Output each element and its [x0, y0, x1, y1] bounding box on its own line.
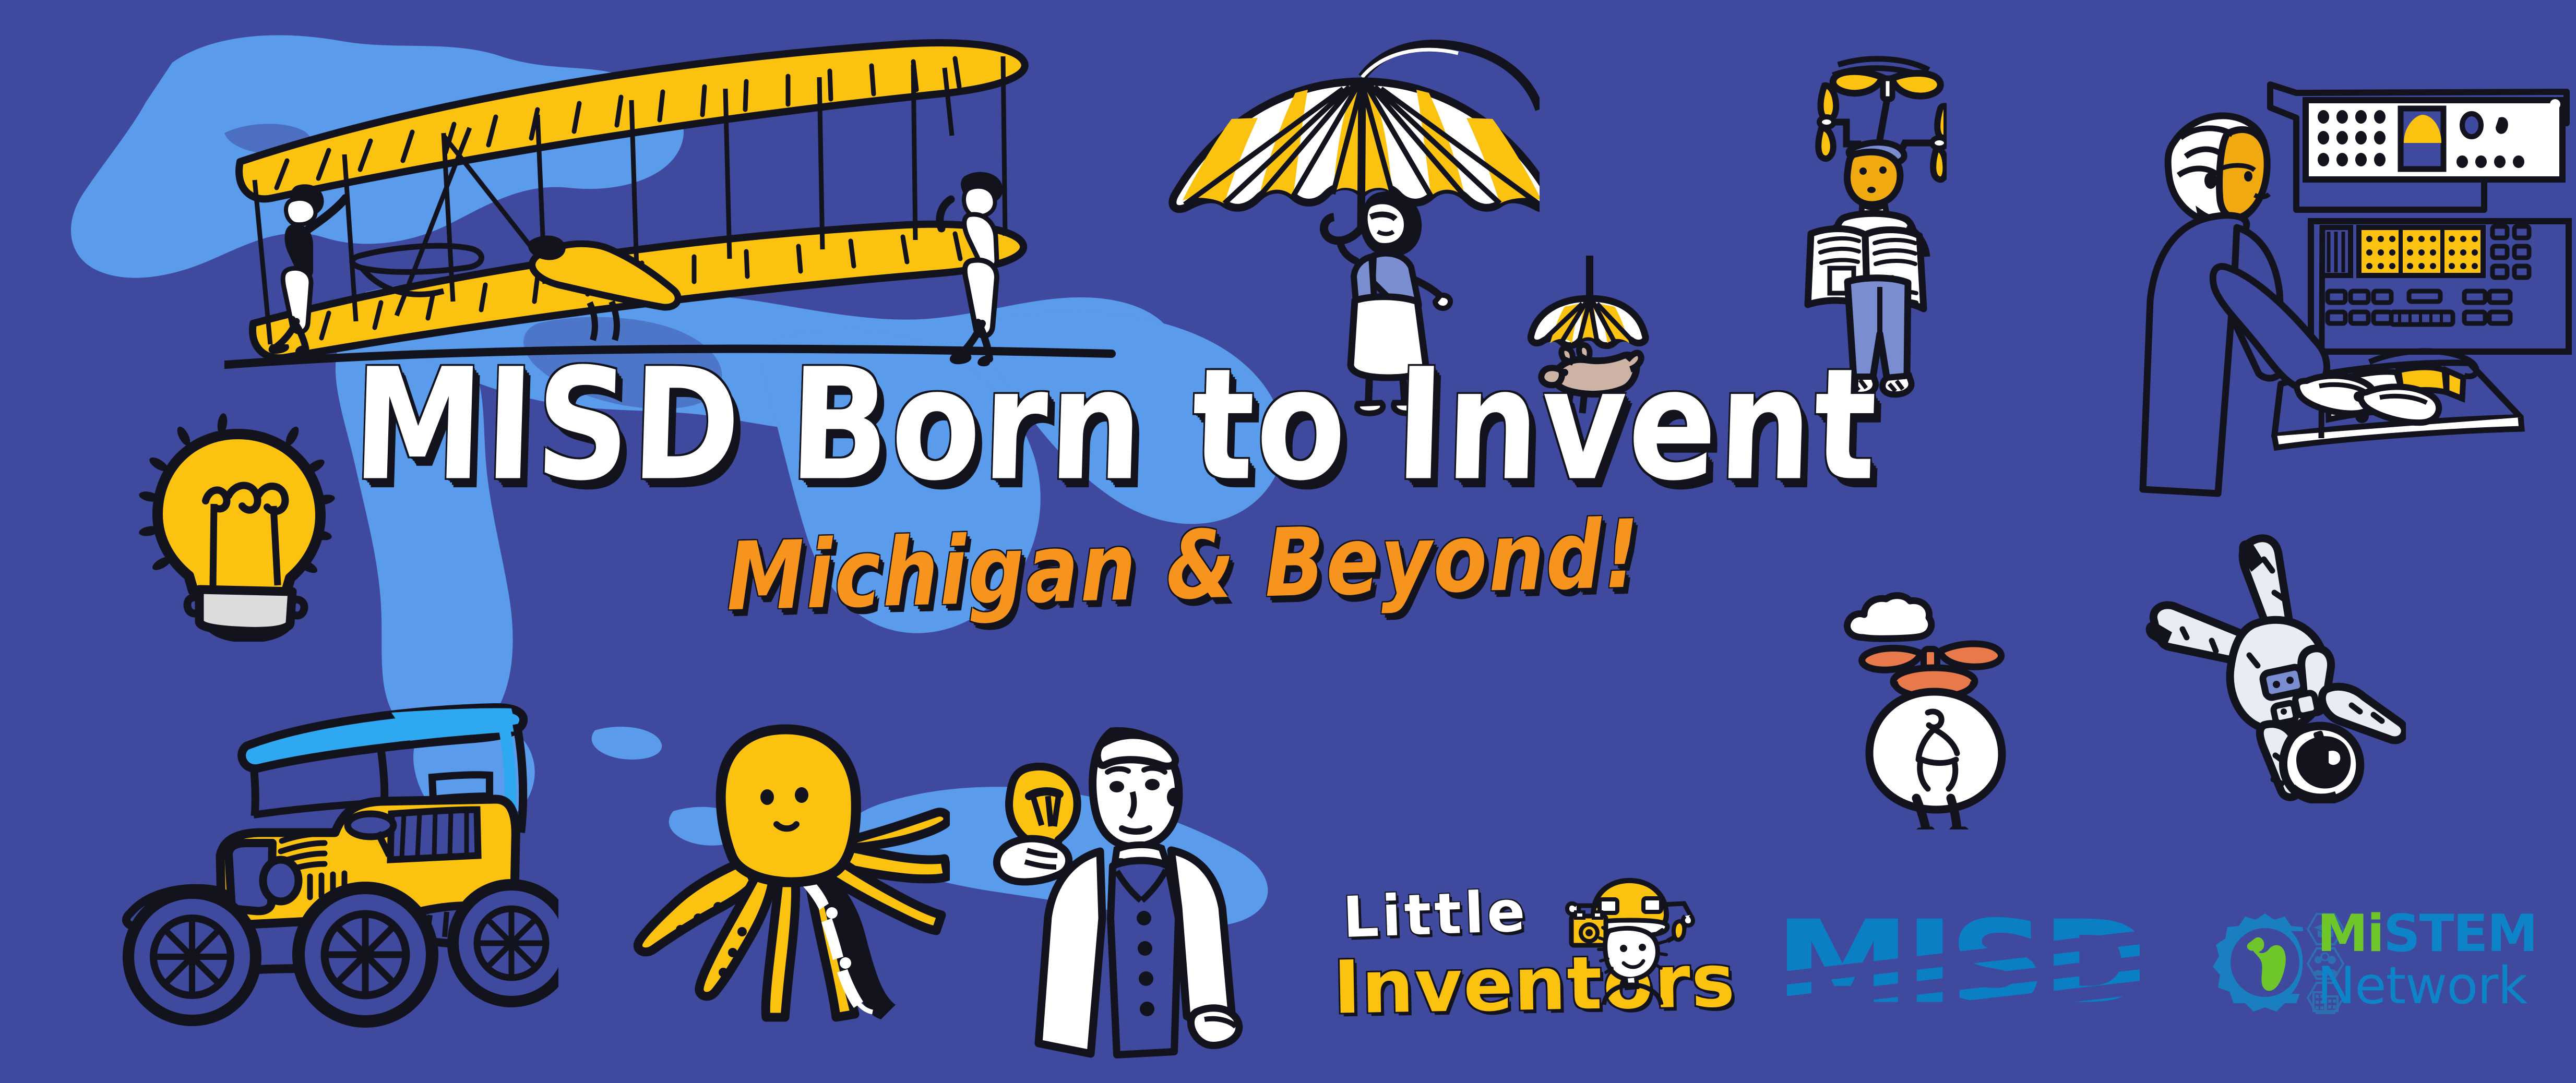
mistem-line1: MiSTEM	[2317, 908, 2537, 960]
mistem-network-logo[interactable]: MiSTEM Network	[2213, 908, 2547, 1049]
banner-root: MISD Born to Invent Michigan & Beyond! L…	[0, 0, 2576, 1083]
little-inventors-line1: Little	[1342, 884, 1529, 946]
propeller-hat-reader	[1727, 52, 1947, 438]
computer-operator	[2124, 73, 2573, 506]
bubble-flyer	[1842, 626, 2051, 829]
lightbulb	[120, 412, 339, 642]
girl-with-umbrella	[1153, 10, 1540, 417]
little-inventors-logo[interactable]: Little Inventors	[1333, 887, 1709, 1043]
octopus	[626, 699, 950, 1022]
mistem-wordmark: MiSTEM Network	[2317, 908, 2537, 1012]
mistem-line2: Network	[2317, 960, 2537, 1012]
misd-wordmark: MISD	[1774, 905, 2140, 1030]
wing-walker-right	[919, 151, 1054, 370]
astronaut	[2124, 522, 2406, 803]
misd-logo[interactable]: MISD	[1774, 905, 2140, 1030]
model-t-car	[99, 683, 558, 1028]
mistem-mi: Mi	[2317, 904, 2383, 964]
little-inventors-mascot-icon	[1526, 875, 1709, 1006]
wing-walker-left	[230, 172, 355, 360]
dog-parachute-umbrella	[1482, 256, 1712, 433]
inventor-with-bulb	[960, 699, 1284, 1064]
mistem-stem: STEM	[2383, 904, 2537, 964]
